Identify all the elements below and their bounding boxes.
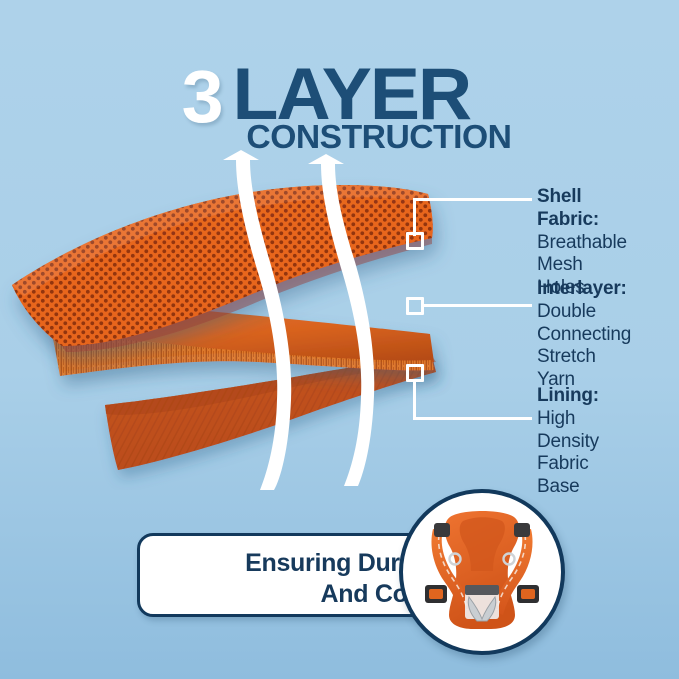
callout-line1-interlayer: Double bbox=[537, 301, 631, 324]
callout-heading-interlayer: Interlayer: bbox=[537, 278, 631, 301]
callout-marker-interlayer bbox=[406, 297, 424, 315]
layer-lining bbox=[105, 356, 436, 470]
callout-heading-shell-fabric: Shell Fabric: bbox=[537, 186, 627, 232]
callout-line-horizontal-shell-fabric bbox=[413, 198, 532, 201]
dog-harness-icon bbox=[403, 493, 561, 651]
callout-text-interlayer: Interlayer: Double Connecting Stretch Ya… bbox=[537, 278, 631, 392]
fabric-layer-stack bbox=[0, 150, 470, 490]
callout-line1-shell-fabric: Breathable bbox=[537, 232, 627, 255]
callout-line2-interlayer: Connecting bbox=[537, 324, 631, 347]
infographic-root: 3 LAYER CONSTRUCTION bbox=[0, 0, 679, 679]
title-number: 3 bbox=[182, 60, 221, 134]
callout-line-vertical-lining bbox=[413, 380, 416, 420]
callout-line2-lining: Fabric Base bbox=[537, 453, 599, 499]
callout-line-vertical-shell-fabric bbox=[413, 198, 416, 236]
title-subtitle: CONSTRUCTION bbox=[246, 120, 511, 153]
callout-line-horizontal-interlayer bbox=[424, 304, 532, 307]
callout-line1-lining: High Density bbox=[537, 408, 599, 454]
callout-line-horizontal-lining bbox=[413, 417, 532, 420]
callout-text-lining: Lining: High Density Fabric Base bbox=[537, 385, 599, 499]
product-image-circle bbox=[399, 489, 565, 655]
callout-heading-lining: Lining: bbox=[537, 385, 599, 408]
page-title: 3 LAYER CONSTRUCTION bbox=[0, 32, 679, 132]
